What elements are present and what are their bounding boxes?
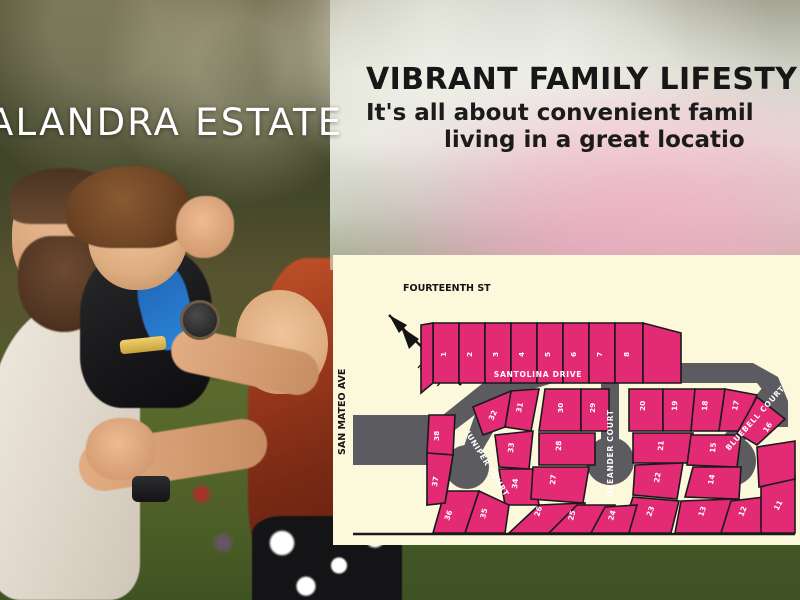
lot-label-14: 14 [706,474,717,486]
lot-label-1: 1 [439,352,448,357]
wristwatch [180,300,220,340]
street-label-san-mateo-ave: SAN MATEO AVE [337,369,348,455]
lot-label-7: 7 [595,352,604,357]
lot-label-38: 38 [432,431,441,441]
lot-label-33: 33 [506,442,516,453]
lot-label-37: 37 [430,476,440,487]
tagline-line-1: It's all about convenient famil [366,100,754,126]
estate-title: ALANDRA ESTATE [0,101,343,144]
lot-label-20: 20 [638,401,647,411]
lot-label-5: 5 [543,352,552,357]
lot-label-8: 8 [622,352,631,357]
lot-28 [539,433,595,465]
headline-text: VIBRANT FAMILY LIFESTYL [366,64,800,96]
lot-label-28: 28 [554,440,563,451]
street-label-fourteenth-st: FOURTEENTH ST [403,283,491,294]
road-label-oleander-court: OLEANDER COURT [606,409,615,496]
lot-label-4: 4 [517,352,526,357]
subdivision-site-plan: FOURTEENTH ST SAN MATEO AVE NORTH [333,255,800,545]
lot-16b [757,441,795,487]
lot-label-29: 29 [588,403,597,413]
lot-label-19: 19 [670,400,679,411]
lot-label-3: 3 [491,352,500,357]
tagline-line-2: living in a great locatio [366,127,800,154]
marketing-banner: VIBRANT FAMILY LIFESTYL It's all about c… [0,0,800,600]
lot-label-15: 15 [708,442,718,453]
fitness-band [132,476,170,502]
lot-label-27: 27 [548,474,558,485]
lot-label-6: 6 [569,352,578,357]
upper-hand [176,196,234,258]
lower-hand [86,418,156,480]
lot-8-wedge [643,323,681,383]
tagline-block: It's all about convenient famil living i… [366,100,800,154]
road-label-santolina-drive: SANTOLINA DRIVE [494,370,582,379]
headline-block: VIBRANT FAMILY LIFESTYL It's all about c… [366,64,800,154]
lot-label-34: 34 [510,478,520,489]
lot-1-flank [421,323,433,393]
child-hair [66,166,190,248]
lot-label-2: 2 [465,352,474,357]
lot-label-21: 21 [656,440,666,451]
lot-label-22: 22 [652,472,663,484]
lot-label-30: 30 [556,403,565,413]
lot-label-18: 18 [700,400,710,411]
lot-27 [531,467,589,503]
